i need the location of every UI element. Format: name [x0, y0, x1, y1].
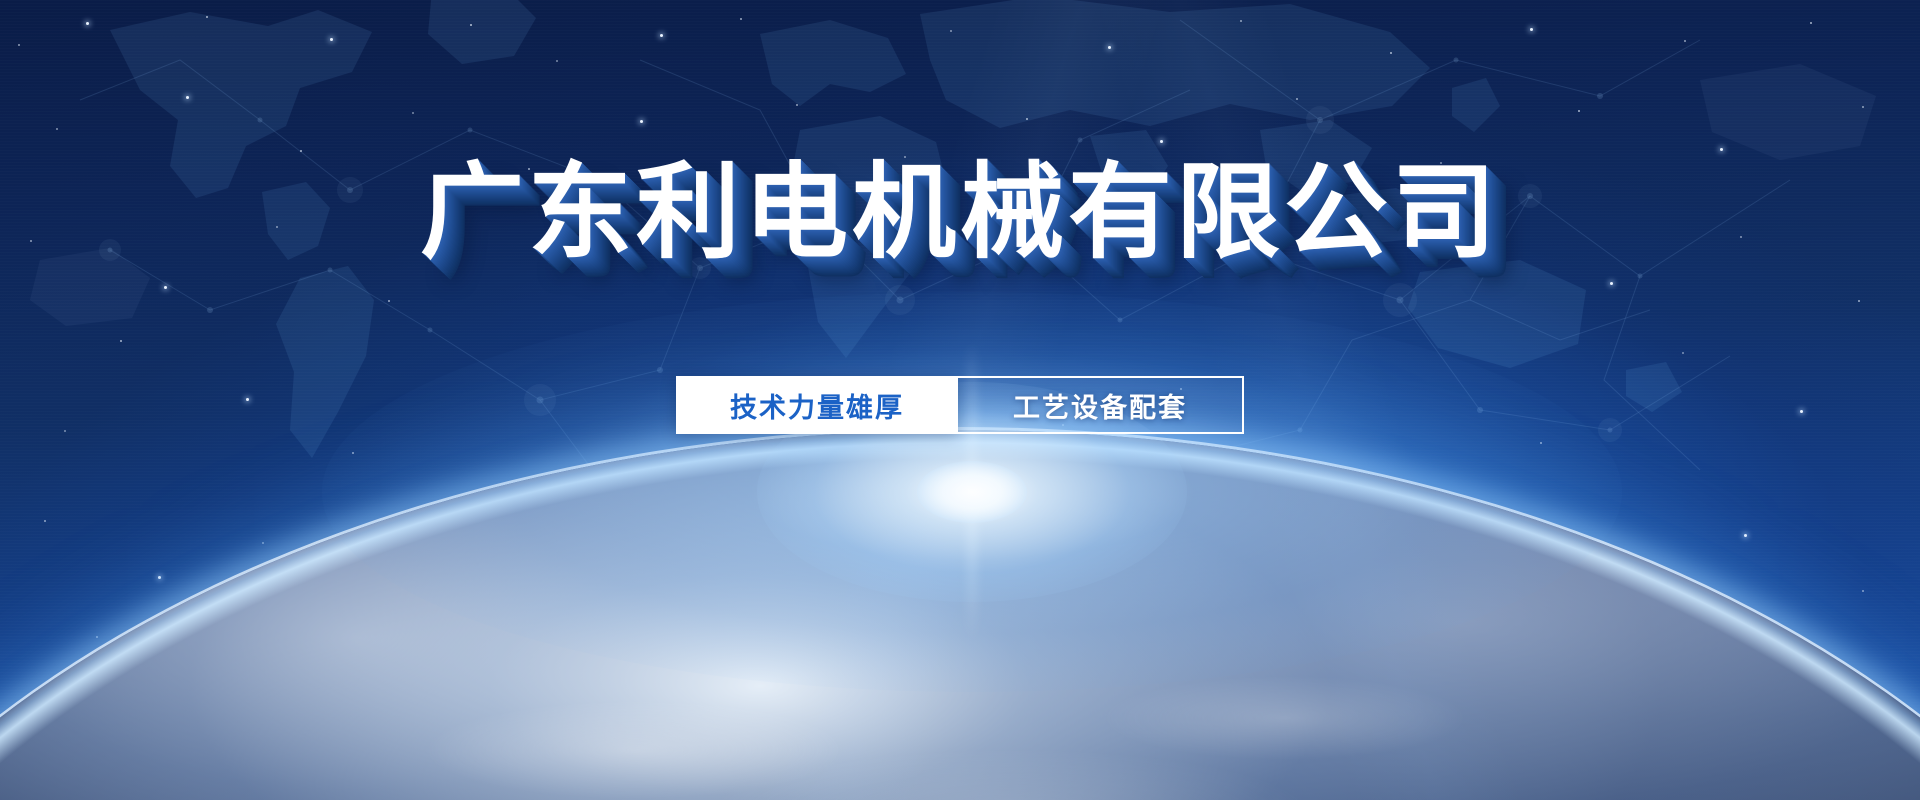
sun-core — [917, 461, 1027, 523]
banner-title-block: 广东利电机械有限公司 — [0, 158, 1920, 266]
tagline-technical-strength[interactable]: 技术力量雄厚 — [676, 376, 958, 434]
tagline-row: 技术力量雄厚 工艺设备配套 — [676, 376, 1244, 434]
company-title: 广东利电机械有限公司 — [420, 158, 1500, 266]
hero-banner: 广东利电机械有限公司 技术力量雄厚 工艺设备配套 — [0, 0, 1920, 800]
tagline-process-equipment[interactable]: 工艺设备配套 — [958, 376, 1244, 434]
tagline-row-wrapper: 技术力量雄厚 工艺设备配套 — [0, 376, 1920, 434]
